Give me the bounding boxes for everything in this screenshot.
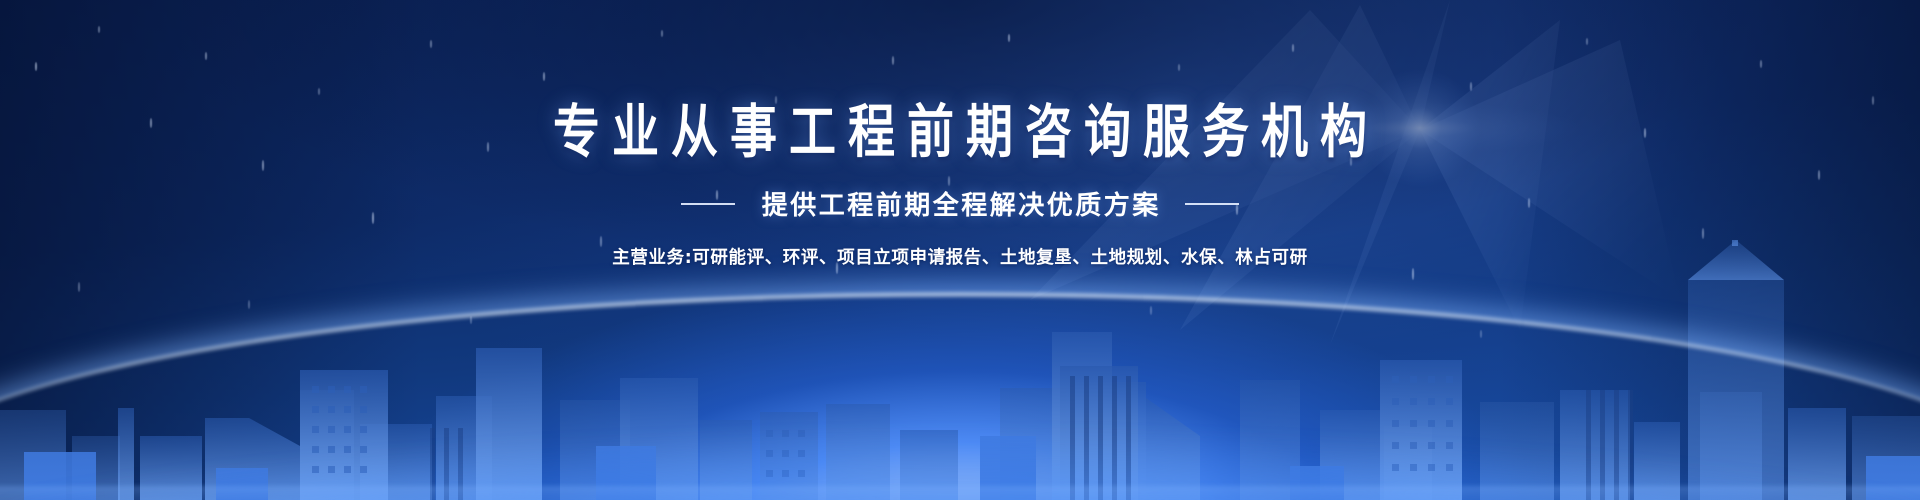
subtitle-row: 提供工程前期全程解决优质方案 — [0, 185, 1920, 222]
city-skyline-silhouette — [0, 240, 1920, 500]
page-subtitle: 提供工程前期全程解决优质方案 — [759, 185, 1161, 222]
hero-banner: 专业从事工程前期咨询服务机构 提供工程前期全程解决优质方案 主营业务:可研能评、… — [0, 0, 1920, 500]
right-rule-icon — [1185, 203, 1239, 205]
business-scope-text: 主营业务:可研能评、环评、项目立项申请报告、土地复垦、土地规划、水保、林占可研 — [0, 244, 1920, 269]
banner-copy: 专业从事工程前期咨询服务机构 提供工程前期全程解决优质方案 主营业务:可研能评、… — [0, 104, 1920, 269]
left-rule-icon — [681, 203, 735, 205]
page-title: 专业从事工程前期咨询服务机构 — [0, 104, 1920, 161]
glowing-horizon-arc — [0, 350, 1920, 500]
horizon-highlight-line — [0, 293, 1920, 486]
